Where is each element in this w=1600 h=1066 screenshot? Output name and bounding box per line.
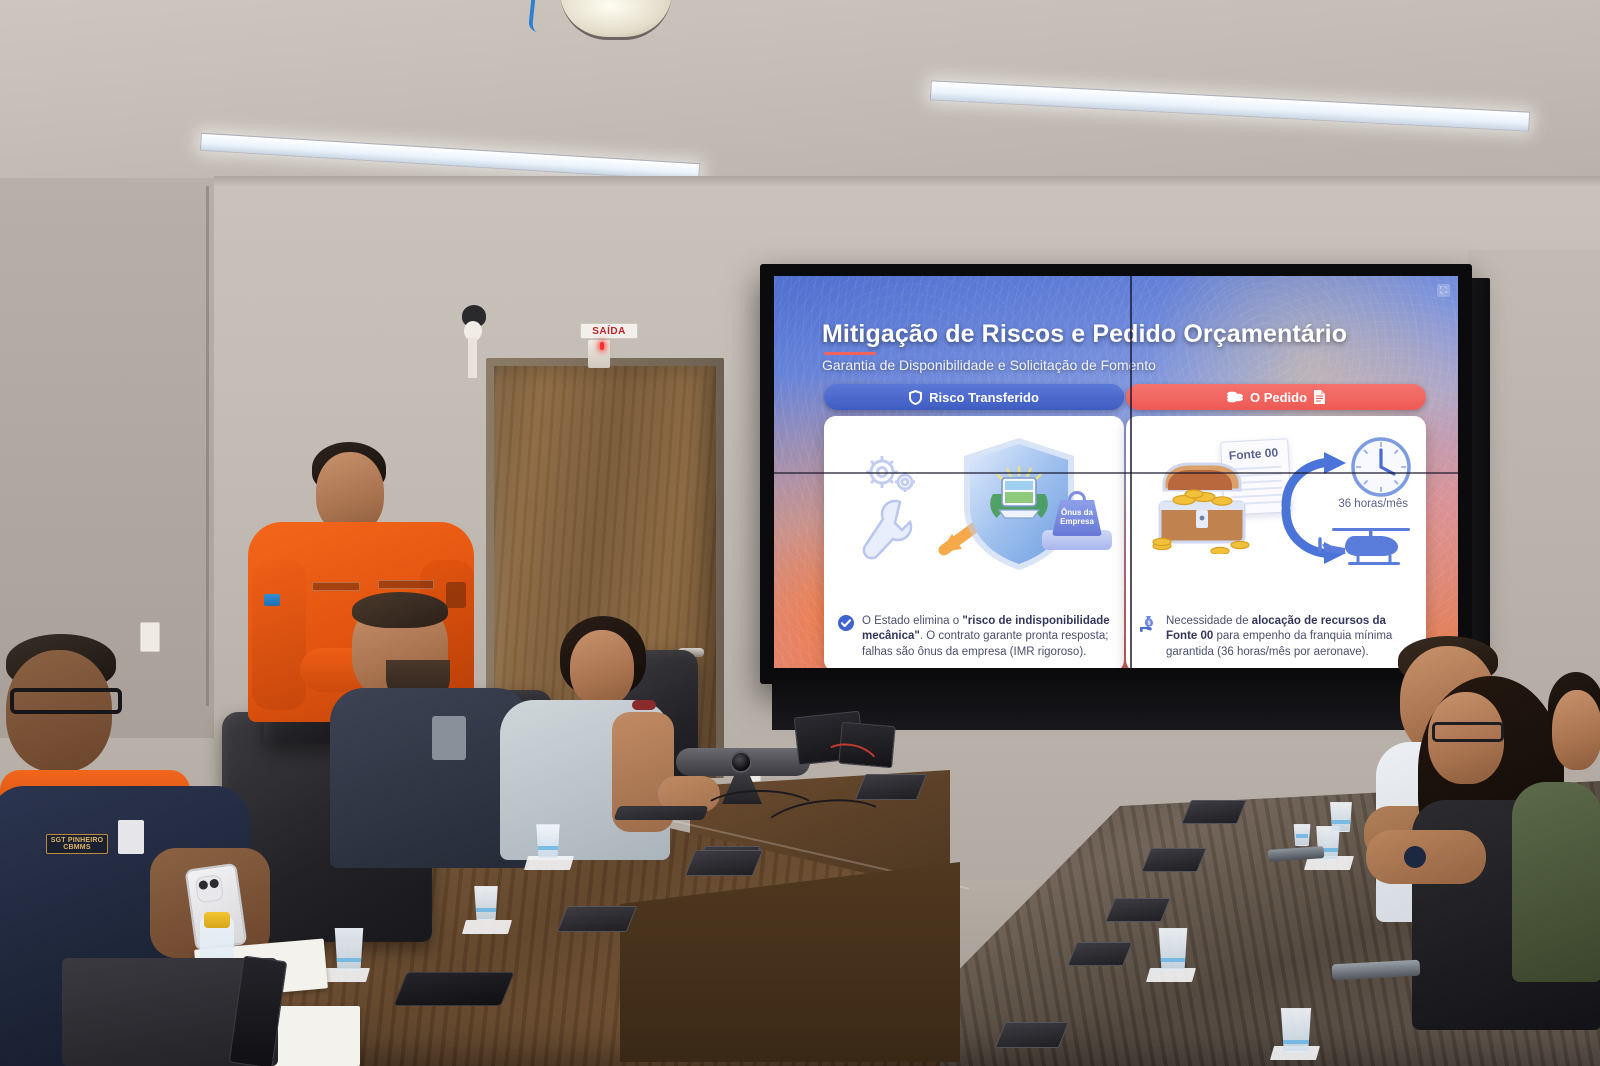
presenter-name-tag-left [312, 582, 360, 591]
shield-icon [909, 390, 922, 405]
water-cup[interactable] [472, 886, 500, 920]
money-stack-icon [1227, 390, 1243, 404]
water-cup[interactable] [1278, 1008, 1314, 1052]
napkin [462, 920, 512, 934]
weight-illustration: Ônus da Empresa [1040, 486, 1114, 556]
water-cup[interactable] [534, 824, 562, 858]
emergency-light [588, 340, 610, 368]
attendee-torso [1512, 782, 1600, 982]
table-port-box[interactable] [1067, 942, 1133, 966]
water-cup[interactable] [1292, 824, 1312, 846]
slide-title: Mitigação de Riscos e Pedido Orçamentári… [822, 320, 1347, 349]
table-port-box[interactable] [1181, 800, 1247, 824]
title-underline [824, 352, 876, 355]
left-panel-note: O Estado elimina o "risco de indisponibi… [838, 614, 1110, 660]
table-port-box[interactable] [685, 850, 764, 876]
attendee-head [1552, 690, 1600, 770]
weight-label-2: Empresa [1060, 517, 1094, 526]
conference-camera[interactable] [676, 748, 810, 776]
water-cup[interactable] [1156, 928, 1190, 970]
attendee-badge [432, 716, 466, 760]
attendee-watch [1404, 846, 1426, 868]
table-port-box[interactable] [1105, 898, 1171, 922]
right-pill-label: O Pedido [1250, 390, 1307, 405]
money-hand-icon: $ [1140, 615, 1158, 632]
video-wall-base [772, 680, 1412, 730]
right-panel-note: $ Necessidade de alocação de recursos da… [1140, 614, 1412, 660]
left-pill-label: Risco Transferido [929, 390, 1039, 405]
clock-icon [1350, 436, 1412, 498]
phone-camera-icon [195, 874, 224, 903]
video-wall[interactable]: ⛶ Mitigação de Riscos e Pedido Orçamentá… [760, 264, 1472, 684]
water-cup[interactable] [1328, 802, 1354, 832]
table-port-box[interactable] [995, 1022, 1070, 1048]
svg-text:$: $ [1148, 621, 1151, 627]
attendee-hands [1366, 830, 1486, 884]
slide-subtitle: Garantia de Disponibilidade e Solicitaçã… [822, 357, 1156, 373]
table-port-box[interactable] [1141, 848, 1207, 872]
presenter-shoulder-patch [446, 582, 466, 608]
officer-badge-line-1: SGT PINHEIRO [51, 837, 104, 844]
right-panel-pill: O Pedido [1126, 384, 1426, 410]
presenter-flag-patch [264, 594, 280, 606]
slide-right-panel: O Pedido Fonte 00 [1126, 384, 1426, 668]
left-panel-card: Ônus da Empresa O Estado elimina o "risc… [824, 416, 1124, 668]
attendee-hair [352, 592, 448, 628]
wall-seam [206, 186, 209, 706]
napkin [524, 856, 574, 870]
security-camera-icon [462, 305, 486, 327]
tablet-device[interactable] [393, 972, 515, 1006]
napkin [320, 968, 370, 982]
laptop-base[interactable] [613, 806, 708, 820]
right-note-text-1: Necessidade de [1166, 615, 1252, 627]
wrench-icon [856, 496, 914, 568]
officer-name-badge: SGT PINHEIROCBMMS [46, 834, 108, 854]
officer-glasses [10, 688, 122, 714]
presentation-slide: ⛶ Mitigação de Riscos e Pedido Orçamentá… [774, 276, 1458, 668]
table-port-box[interactable] [557, 906, 638, 932]
table-port-box[interactable] [855, 774, 928, 800]
video-wall-seam-horizontal [774, 472, 1458, 474]
presenter-name-tag-right [378, 580, 434, 589]
camera-lens-icon [730, 751, 752, 773]
bottle-cap [204, 912, 230, 928]
helicopter-icon [1318, 524, 1416, 568]
left-note-text-1: O Estado elimina o [862, 615, 962, 627]
wall-switch[interactable] [140, 622, 160, 652]
water-cup[interactable] [332, 928, 366, 970]
weight-label-1: Ônus da [1061, 508, 1093, 517]
right-panel-illustration: Fonte 00 [1126, 424, 1426, 574]
left-panel-illustration: Ônus da Empresa [824, 424, 1124, 574]
meeting-room-scene: SAÍDA ⛶ Mitigação de Riscos e Pedido Orç… [0, 0, 1600, 1066]
officer-badge-line-2: CBMMS [63, 844, 90, 851]
napkin [1146, 968, 1196, 982]
attendee-head [570, 630, 634, 706]
camera-conduit [468, 338, 477, 378]
document-icon [1314, 390, 1325, 404]
fullscreen-icon[interactable]: ⛶ [1437, 284, 1450, 297]
exit-sign: SAÍDA [580, 323, 638, 339]
left-panel-pill: Risco Transferido [824, 384, 1124, 410]
hours-label: 36 horas/mês [1338, 498, 1408, 510]
weight-body: Ônus da Empresa [1052, 500, 1102, 536]
wall-cornice [214, 176, 1600, 186]
officer-id-card [118, 820, 144, 854]
check-circle-icon [838, 615, 854, 631]
presenter-arm-left [252, 560, 306, 710]
attendee-bracelet [632, 700, 656, 710]
attendee-glasses [1432, 722, 1504, 742]
slide-left-panel: Risco Transferido [824, 384, 1124, 668]
right-panel-card: Fonte 00 [1126, 416, 1426, 668]
